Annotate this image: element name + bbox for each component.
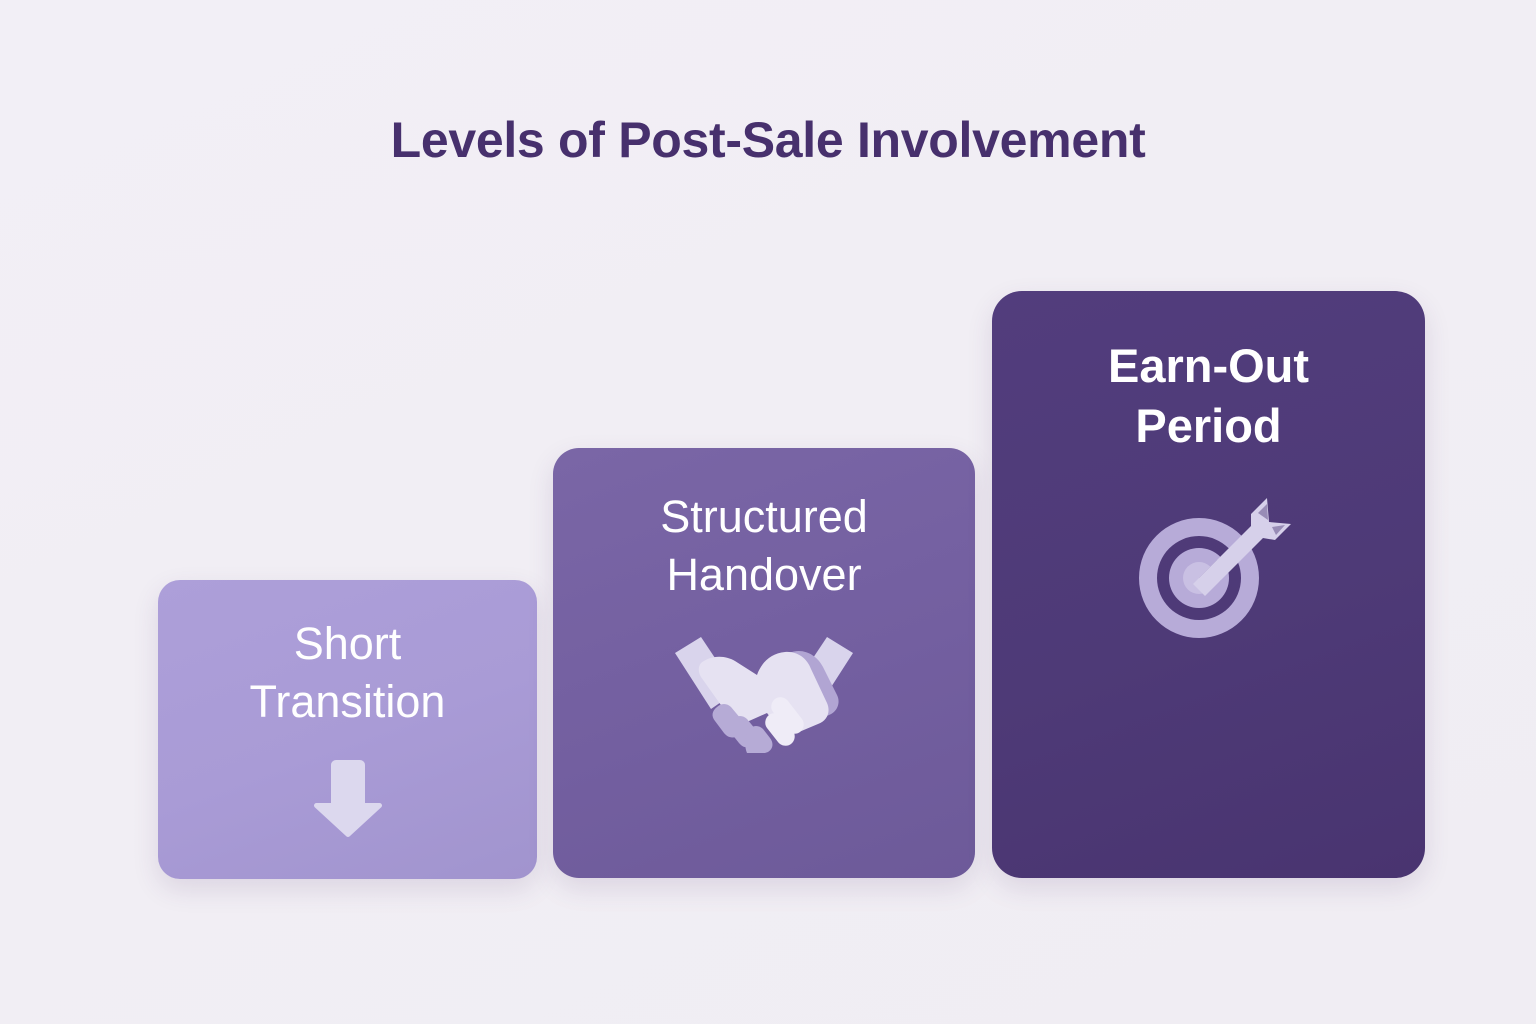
infographic-canvas: Levels of Post-Sale Involvement Short Tr… [0, 0, 1536, 1024]
page-title: Levels of Post-Sale Involvement [0, 112, 1536, 168]
bar-label-structured-handover: Structured Handover [553, 488, 975, 603]
bar-structured-handover[interactable]: Structured Handover [553, 448, 975, 878]
down-arrow-icon [309, 756, 387, 840]
bar-label-line2: Handover [563, 546, 965, 604]
bar-label-line1: Structured [563, 488, 965, 546]
bar-label-line2: Transition [168, 673, 527, 731]
bar-label-short-transition: Short Transition [158, 615, 537, 730]
bar-earn-out-period[interactable]: Earn-Out Period [992, 291, 1425, 878]
handshake-icon [671, 625, 857, 753]
bar-label-line1: Short [168, 615, 527, 673]
target-arrow-icon [1125, 492, 1293, 652]
bar-label-earn-out-period: Earn-Out Period [992, 336, 1425, 456]
bar-short-transition[interactable]: Short Transition [158, 580, 537, 879]
bar-label-line2: Period [1002, 396, 1415, 456]
bar-label-line1: Earn-Out [1002, 336, 1415, 396]
